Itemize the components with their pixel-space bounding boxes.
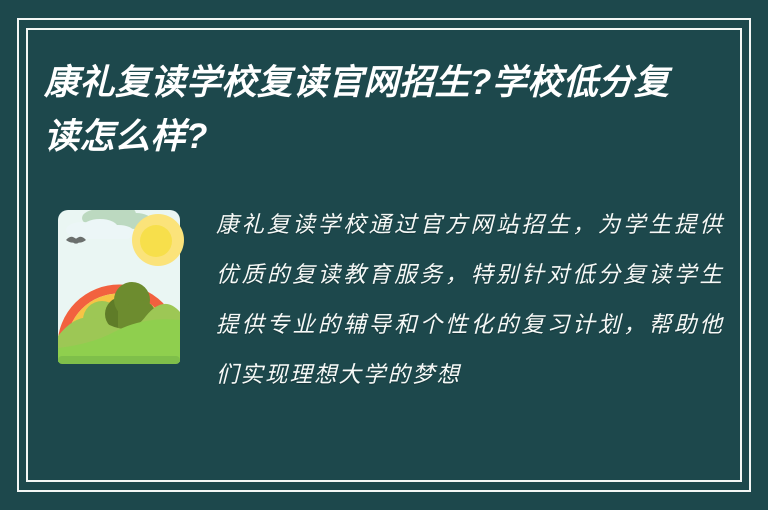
illustration-svg xyxy=(44,196,194,376)
ground-bar xyxy=(58,356,180,364)
content-row: 康礼复读学校通过官方网站招生，为学生提供优质的复读教育服务，特别针对低分复读学生… xyxy=(44,196,724,400)
body-paragraph: 康礼复读学校通过官方网站招生，为学生提供优质的复读教育服务，特别针对低分复读学生… xyxy=(216,200,724,400)
poster-canvas: 康礼复读学校复读官网招生?学校低分复读怎么样? xyxy=(0,0,768,510)
rainbow-landscape-illustration xyxy=(44,196,194,376)
page-title: 康礼复读学校复读官网招生?学校低分复读怎么样? xyxy=(44,56,684,164)
sun-icon xyxy=(132,214,184,266)
